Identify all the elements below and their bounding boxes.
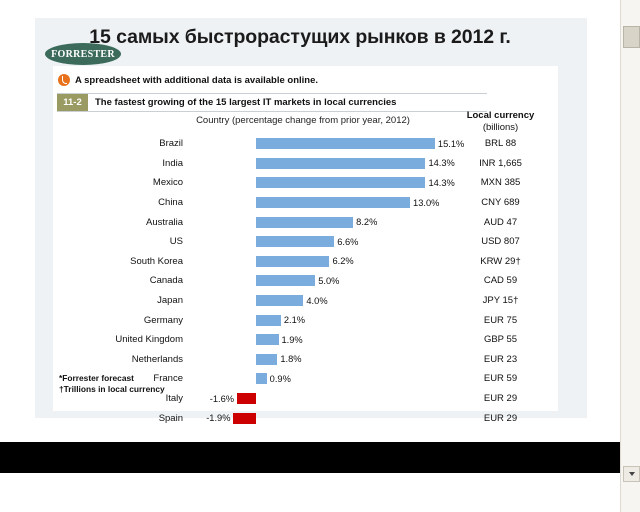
bar-value-label: -1.9% <box>206 408 230 428</box>
forrester-logo: FORRESTER <box>45 43 121 65</box>
local-currency-value: INR 1,665 <box>448 154 553 174</box>
bar-value-label: 2.1% <box>284 310 305 330</box>
bar-track: 14.3% <box>189 154 439 174</box>
bar-value-label: 6.6% <box>337 232 358 252</box>
chart-heading: The fastest growing of the 15 largest IT… <box>88 94 396 111</box>
bar-positive <box>256 158 425 169</box>
bar-negative <box>233 413 256 424</box>
local-currency-value: JPY 15† <box>448 291 553 311</box>
bar-track: 2.1% <box>189 310 439 330</box>
bar-value-label: -1.6% <box>210 389 234 409</box>
local-currency-value: USD 807 <box>448 232 553 252</box>
bar-track: 13.0% <box>189 193 439 213</box>
spreadsheet-note-text: A spreadsheet with additional data is av… <box>75 75 318 86</box>
country-label: Japan <box>53 291 183 311</box>
country-label: Mexico <box>53 173 183 193</box>
local-currency-value: EUR 75 <box>448 310 553 330</box>
bar-positive <box>256 217 353 228</box>
bar-track: 14.3% <box>189 173 439 193</box>
country-label: Netherlands <box>53 350 183 370</box>
chevron-down-icon <box>629 472 635 476</box>
chart-row: Japan4.0%JPY 15† <box>53 291 558 311</box>
scrollbar-thumb[interactable] <box>623 26 640 48</box>
bar-track: 4.0% <box>189 291 439 311</box>
country-label: United Kingdom <box>53 330 183 350</box>
bar-track: 1.8% <box>189 350 439 370</box>
chart-card: A spreadsheet with additional data is av… <box>53 66 558 411</box>
bar-track: 6.2% <box>189 252 439 272</box>
bar-negative <box>237 393 256 404</box>
column-header-currency: Local currency (billions) <box>448 110 553 133</box>
country-label: Canada <box>53 271 183 291</box>
spreadsheet-note: A spreadsheet with additional data is av… <box>58 71 318 89</box>
chart-row: Brazil15.1%BRL 88 <box>53 134 558 154</box>
black-band <box>0 442 621 473</box>
page-title: 15 самых быстрорастущих рынков в 2012 г. <box>60 26 540 49</box>
bar-positive <box>256 138 435 149</box>
scroll-down-button[interactable] <box>623 466 640 482</box>
vertical-scrollbar[interactable] <box>620 0 640 512</box>
chart-row: India14.3%INR 1,665 <box>53 154 558 174</box>
local-currency-value: BRL 88 <box>448 134 553 154</box>
local-currency-value: EUR 59 <box>448 369 553 389</box>
bar-track: 0.9% <box>189 369 439 389</box>
chart-row: United Kingdom1.9%GBP 55 <box>53 330 558 350</box>
column-header-currency-sub: (billions) <box>448 122 553 134</box>
local-currency-value: MXN 385 <box>448 173 553 193</box>
local-currency-value: KRW 29† <box>448 252 553 272</box>
bar-positive <box>256 334 279 345</box>
forrester-logo-text: FORRESTER <box>51 49 115 60</box>
bar-positive <box>256 373 267 384</box>
local-currency-value: EUR 23 <box>448 350 553 370</box>
bar-value-label: 0.9% <box>270 369 291 389</box>
bar-track: -1.6% <box>189 389 439 409</box>
chart-row: Mexico14.3%MXN 385 <box>53 173 558 193</box>
bar-positive <box>256 256 329 267</box>
bar-value-label: 8.2% <box>356 212 377 232</box>
country-label: China <box>53 193 183 213</box>
chart-row: Spain-1.9%EUR 29 <box>53 408 558 428</box>
bar-positive <box>256 354 277 365</box>
country-label: South Korea <box>53 252 183 272</box>
bar-positive <box>256 295 303 306</box>
chart-number-badge: 11-2 <box>57 94 88 111</box>
column-header-currency-main: Local currency <box>448 110 553 122</box>
chart-row: China13.0%CNY 689 <box>53 193 558 213</box>
chart-row: Netherlands1.8%EUR 23 <box>53 350 558 370</box>
local-currency-value: AUD 47 <box>448 212 553 232</box>
bar-positive <box>256 236 334 247</box>
country-label: Brazil <box>53 134 183 154</box>
bar-value-label: 5.0% <box>318 271 339 291</box>
country-label: US <box>53 232 183 252</box>
bar-positive <box>256 197 410 208</box>
bar-value-label: 1.8% <box>280 350 301 370</box>
bar-value-label: 1.9% <box>282 330 303 350</box>
bar-track: 8.2% <box>189 212 439 232</box>
country-label: Australia <box>53 212 183 232</box>
local-currency-value: CAD 59 <box>448 271 553 291</box>
country-label: Spain <box>53 408 183 428</box>
country-label: Germany <box>53 310 183 330</box>
bar-track: 15.1% <box>189 134 439 154</box>
spreadsheet-icon <box>58 74 70 86</box>
country-label: India <box>53 154 183 174</box>
chart-row: Australia8.2%AUD 47 <box>53 212 558 232</box>
bar-track: 6.6% <box>189 232 439 252</box>
bar-track: 1.9% <box>189 330 439 350</box>
local-currency-value: EUR 29 <box>448 408 553 428</box>
bar-track: -1.9% <box>189 408 439 428</box>
bar-value-label: 13.0% <box>413 193 439 213</box>
footnote-forecast: *Forrester forecast <box>59 373 165 384</box>
bar-value-label: 4.0% <box>306 291 327 311</box>
bar-positive <box>256 315 281 326</box>
bar-value-label: 6.2% <box>332 252 353 272</box>
chart-row: US6.6%USD 807 <box>53 232 558 252</box>
bar-positive <box>256 177 425 188</box>
footnotes: *Forrester forecast †Trillions in local … <box>59 373 165 394</box>
chart-header: 11-2 The fastest growing of the 15 large… <box>57 93 487 112</box>
local-currency-value: EUR 29 <box>448 389 553 409</box>
chart-row: Canada5.0%CAD 59 <box>53 271 558 291</box>
column-header-country: Country (percentage change from prior ye… <box>168 115 438 126</box>
document-viewport: 15 самых быстрорастущих рынков в 2012 г.… <box>0 0 621 512</box>
local-currency-value: CNY 689 <box>448 193 553 213</box>
chart-row: Germany2.1%EUR 75 <box>53 310 558 330</box>
chart-row: South Korea6.2%KRW 29† <box>53 252 558 272</box>
bar-track: 5.0% <box>189 271 439 291</box>
footnote-trillions: †Trillions in local currency <box>59 384 165 395</box>
bar-positive <box>256 275 315 286</box>
local-currency-value: GBP 55 <box>448 330 553 350</box>
